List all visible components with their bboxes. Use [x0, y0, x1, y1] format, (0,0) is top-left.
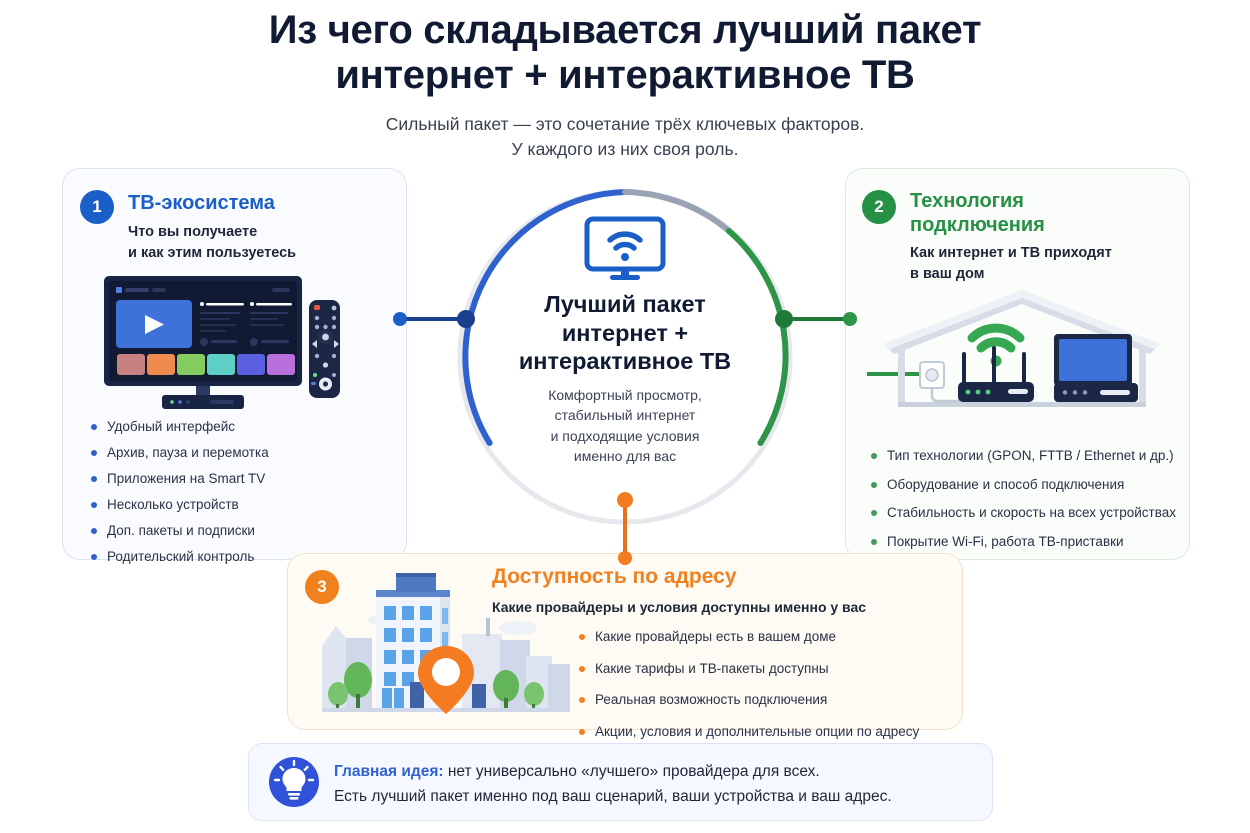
card-2-bullet-list: Тип технологии (GPON, FTTB / Ethernet и … — [870, 449, 1190, 563]
badge-number-1: 1 — [80, 190, 114, 224]
card-2-title-line-2: подключения — [910, 214, 1045, 236]
card-3-bullet-list: Какие провайдеры есть в вашем доме Какие… — [578, 630, 958, 756]
lightbulb-icon — [268, 756, 320, 808]
list-item: Какие тарифы и ТВ-пакеты доступны — [578, 662, 958, 676]
infographic-root: Из чего складывается лучший пакет интерн… — [0, 0, 1250, 833]
center-description: Комфортный просмотр, стабильный интернет… — [548, 385, 702, 466]
connector-bottom-orange — [612, 490, 638, 568]
list-item: Архив, пауза и перемотка — [90, 446, 390, 460]
card-1-subtitle-line-1: Что вы получаете — [128, 224, 257, 240]
page-title: Из чего складывается лучший пакет интерн… — [140, 8, 1110, 98]
card-2-subtitle-line-2: в ваш дом — [910, 266, 984, 282]
list-item: Покрытие Wi-Fi, работа ТВ-приставки — [870, 535, 1190, 549]
list-item: Какие провайдеры есть в вашем доме — [578, 630, 958, 644]
connector-left-blue — [390, 306, 476, 332]
title-line-2: интернет + интерактивное ТВ — [140, 53, 1110, 98]
center-title-line-1: Лучший пакет — [544, 291, 706, 317]
tv-wifi-icon — [583, 216, 667, 282]
list-item: Стабильность и скорость на всех устройст… — [870, 506, 1190, 520]
city-buildings-with-map-pin-illustration — [322, 568, 570, 718]
list-item: Реальная возможность подключения — [578, 693, 958, 707]
center-title-line-3: интерактивное ТВ — [519, 348, 731, 374]
page-subtitle: Сильный пакет — это сочетание трёх ключе… — [260, 112, 990, 163]
list-item: Тип технологии (GPON, FTTB / Ethernet и … — [870, 449, 1190, 463]
list-item: Удобный интерфейс — [90, 420, 390, 434]
badge-number-2: 2 — [862, 190, 896, 224]
center-desc-line-2: стабильный интернет — [555, 407, 696, 423]
card-2-title: Технология подключения — [910, 190, 1140, 237]
card-1-subtitle: Что вы получаете и как этим пользуетесь — [128, 222, 378, 264]
footer-line-1-rest: нет универсально «лучшего» провайдера дл… — [444, 763, 820, 780]
footer-text: Главная идея: нет универсально «лучшего»… — [334, 760, 974, 810]
title-line-1: Из чего складывается лучший пакет — [269, 8, 981, 52]
list-item: Оборудование и способ подключения — [870, 478, 1190, 492]
footer-line-2: Есть лучший пакет именно под ваш сценари… — [334, 788, 892, 805]
list-item: Доп. пакеты и подписки — [90, 524, 390, 538]
smart-tv-with-remote-illustration — [96, 272, 346, 412]
card-2-title-line-1: Технология — [910, 190, 1024, 212]
footer-lead: Главная идея: — [334, 763, 444, 780]
center-desc-line-3: и подходящие условия — [551, 428, 700, 444]
card-1-subtitle-line-2: и как этим пользуетесь — [128, 245, 296, 261]
card-1-title: ТВ-экосистема — [128, 192, 358, 216]
center-title-line-2: интернет + — [562, 320, 688, 346]
list-item: Приложения на Smart TV — [90, 472, 390, 486]
subtitle-line-1: Сильный пакет — это сочетание трёх ключе… — [386, 114, 865, 134]
list-item: Акции, условия и дополнительные опции по… — [578, 725, 958, 739]
card-2-subtitle: Как интернет и ТВ приходят в ваш дом — [910, 243, 1160, 285]
subtitle-line-2: У каждого из них своя роль. — [260, 137, 990, 162]
center-title: Лучший пакет интернет + интерактивное ТВ — [519, 290, 731, 376]
house-with-router-illustration — [862, 282, 1182, 414]
list-item: Несколько устройств — [90, 498, 390, 512]
center-desc-line-4: именно для вас — [574, 448, 676, 464]
connector-right-green — [774, 306, 860, 332]
card-2-subtitle-line-1: Как интернет и ТВ приходят — [910, 245, 1112, 261]
center-desc-line-1: Комфортный просмотр, — [548, 387, 702, 403]
center-node: Лучший пакет интернет + интерактивное ТВ… — [452, 184, 798, 530]
